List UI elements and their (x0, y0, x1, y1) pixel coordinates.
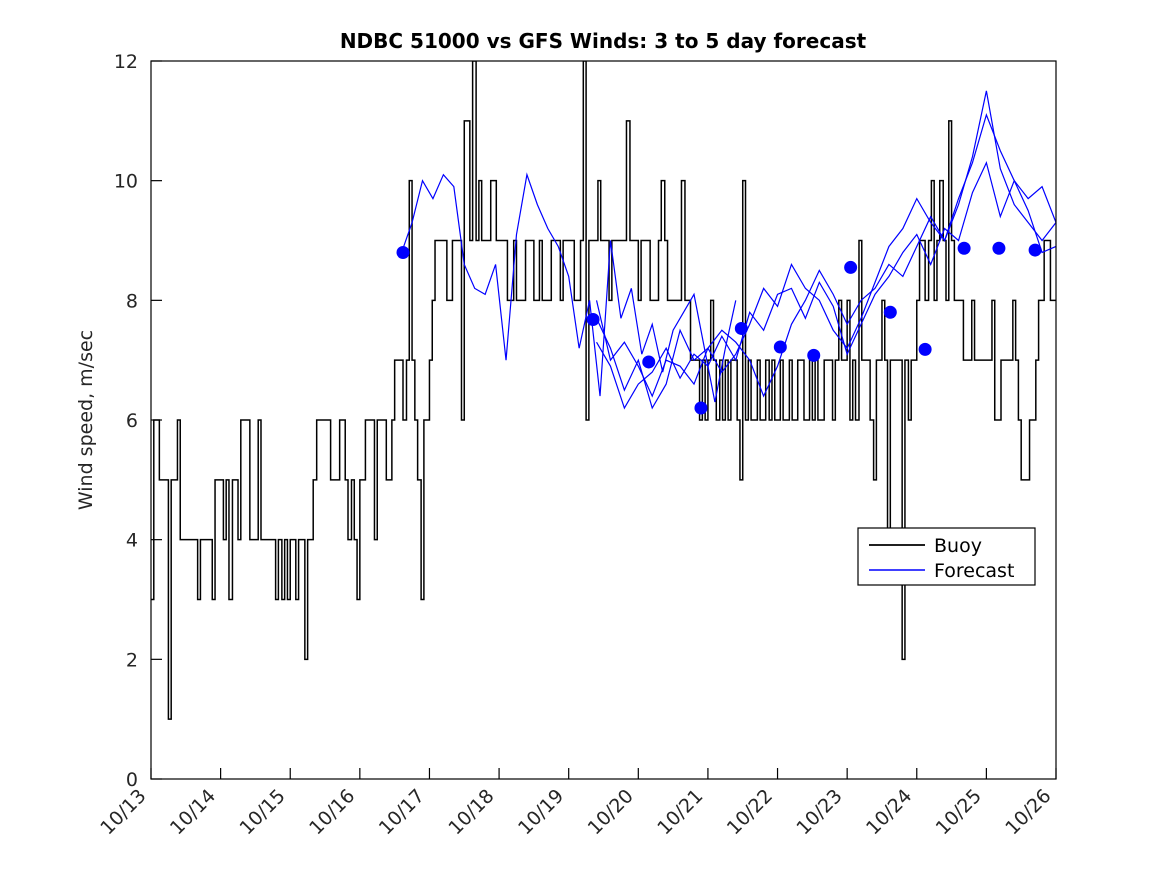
forecast-marker (587, 313, 600, 326)
chart-title: NDBC 51000 vs GFS Winds: 3 to 5 day fore… (340, 29, 867, 53)
forecast-marker (958, 242, 971, 255)
forecast-marker (694, 402, 707, 415)
y-tick-label: 10 (114, 171, 138, 193)
y-tick-label: 4 (126, 530, 138, 552)
y-tick-label: 8 (126, 290, 138, 312)
forecast-marker (844, 261, 857, 274)
forecast-marker (884, 306, 897, 319)
y-axis-label: Wind speed, m/sec (75, 330, 97, 510)
forecast-marker (992, 242, 1005, 255)
forecast-marker (735, 322, 748, 335)
chart-legend[interactable]: Buoy Forecast (858, 528, 1035, 585)
forecast-marker (1029, 244, 1042, 257)
forecast-marker (642, 355, 655, 368)
figure-container: NDBC 51000 vs GFS Winds: 3 to 5 day fore… (0, 0, 1167, 875)
y-tick-label: 12 (114, 51, 138, 73)
wind-speed-chart: NDBC 51000 vs GFS Winds: 3 to 5 day fore… (0, 0, 1167, 875)
legend-label-forecast: Forecast (934, 560, 1014, 582)
forecast-marker (919, 343, 932, 356)
legend-label-buoy: Buoy (934, 535, 982, 557)
forecast-marker (774, 341, 787, 354)
y-tick-label: 2 (126, 649, 138, 671)
forecast-marker (807, 349, 820, 362)
y-tick-label: 6 (126, 410, 138, 432)
forecast-marker (397, 246, 410, 259)
